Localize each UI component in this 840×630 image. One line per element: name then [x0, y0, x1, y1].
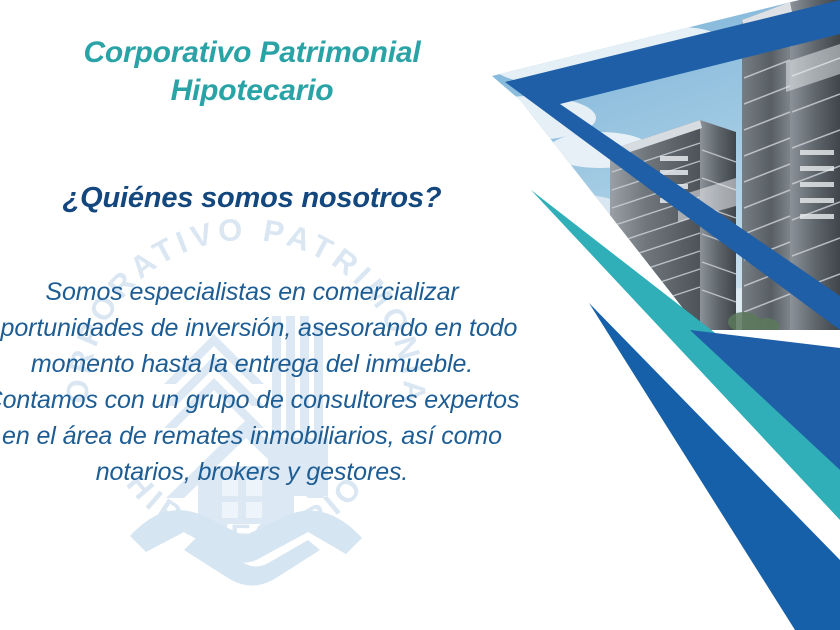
body-paragraph: Somos especialistas en comercializar opo…: [0, 274, 532, 382]
page-title-line-2: Hipotecario: [0, 72, 532, 110]
background-skyline: [596, 268, 730, 330]
foliage: [728, 312, 779, 334]
wedge-blue-upper: [690, 330, 840, 470]
body-paragraph: Contamos con un grupo de consultores exp…: [0, 382, 532, 490]
page-title: Corporativo Patrimonial Hipotecario: [0, 34, 532, 111]
section-heading: ¿Quiénes somos nosotros?: [0, 182, 532, 215]
wedge-teal: [531, 190, 840, 520]
chevron-frame: [505, 0, 840, 330]
page-title-line-1: Corporativo Patrimonial: [0, 34, 532, 72]
wedge-blue-lower: [589, 303, 840, 630]
tower-left: [610, 120, 736, 330]
text-column: Corporativo Patrimonial Hipotecario ¿Qui…: [0, 0, 532, 630]
presentation-slide: CORPORATIVO PATRIMONIAL HIPOTECARIO: [0, 0, 840, 630]
body-text: Somos especialistas en comercializar opo…: [0, 274, 532, 490]
tower-right: [742, 0, 840, 330]
